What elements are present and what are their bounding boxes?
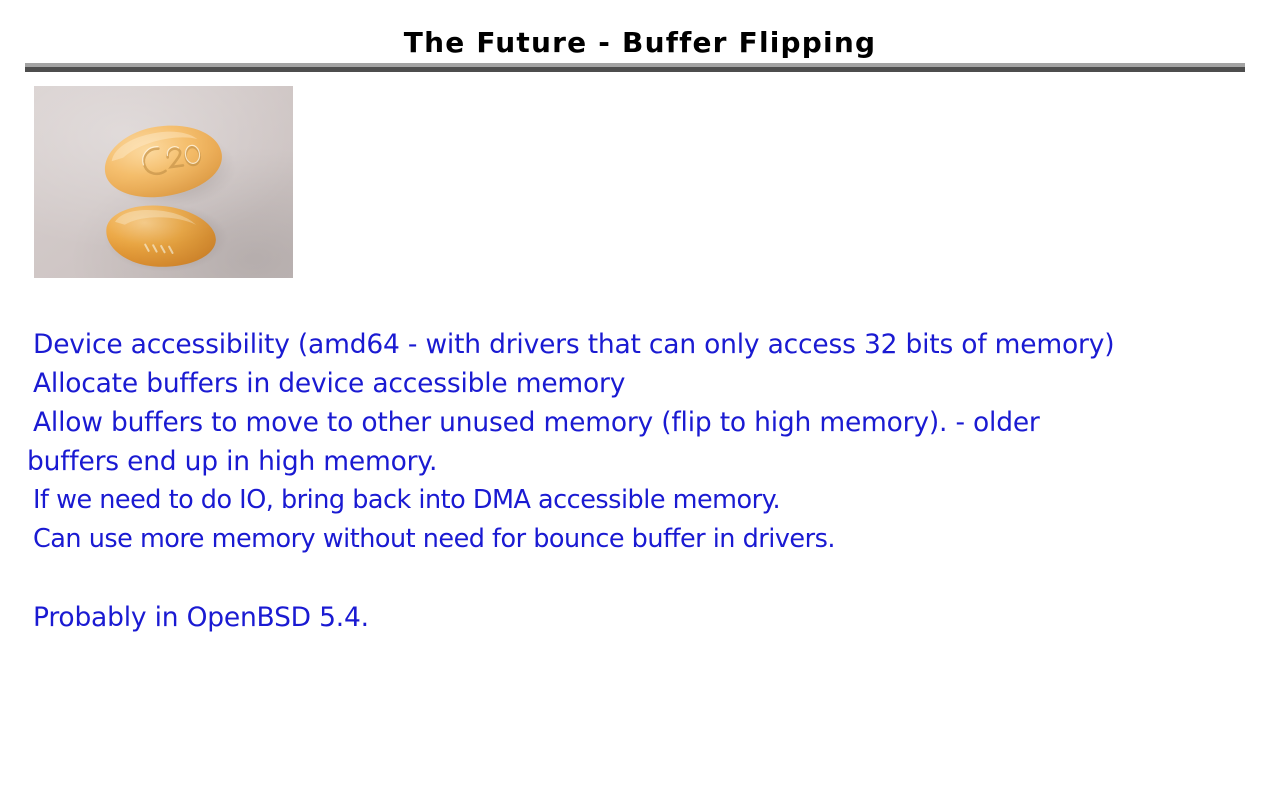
body-line: Probably in OpenBSD 5.4. (0, 598, 1280, 637)
body-line: Allocate buffers in device accessible me… (0, 364, 1280, 403)
page-title: The Future - Buffer Flipping (0, 26, 1280, 59)
title-divider (25, 63, 1245, 72)
body-line: buffers end up in high memory. (0, 442, 1280, 481)
divider-dark-band (25, 67, 1245, 72)
slide-root: The Future - Buffer Flipping (0, 0, 1280, 800)
body-line: Device accessibility (amd64 - with drive… (0, 325, 1280, 364)
pills-illustration (34, 86, 293, 278)
body-line-spacer (0, 559, 1280, 598)
body-line: Allow buffers to move to other unused me… (0, 403, 1280, 442)
body-line: Can use more memory without need for bou… (0, 520, 1280, 559)
pills-photo (34, 86, 293, 278)
body-line: If we need to do IO, bring back into DMA… (0, 481, 1280, 520)
body-text-block: Device accessibility (amd64 - with drive… (0, 325, 1280, 637)
